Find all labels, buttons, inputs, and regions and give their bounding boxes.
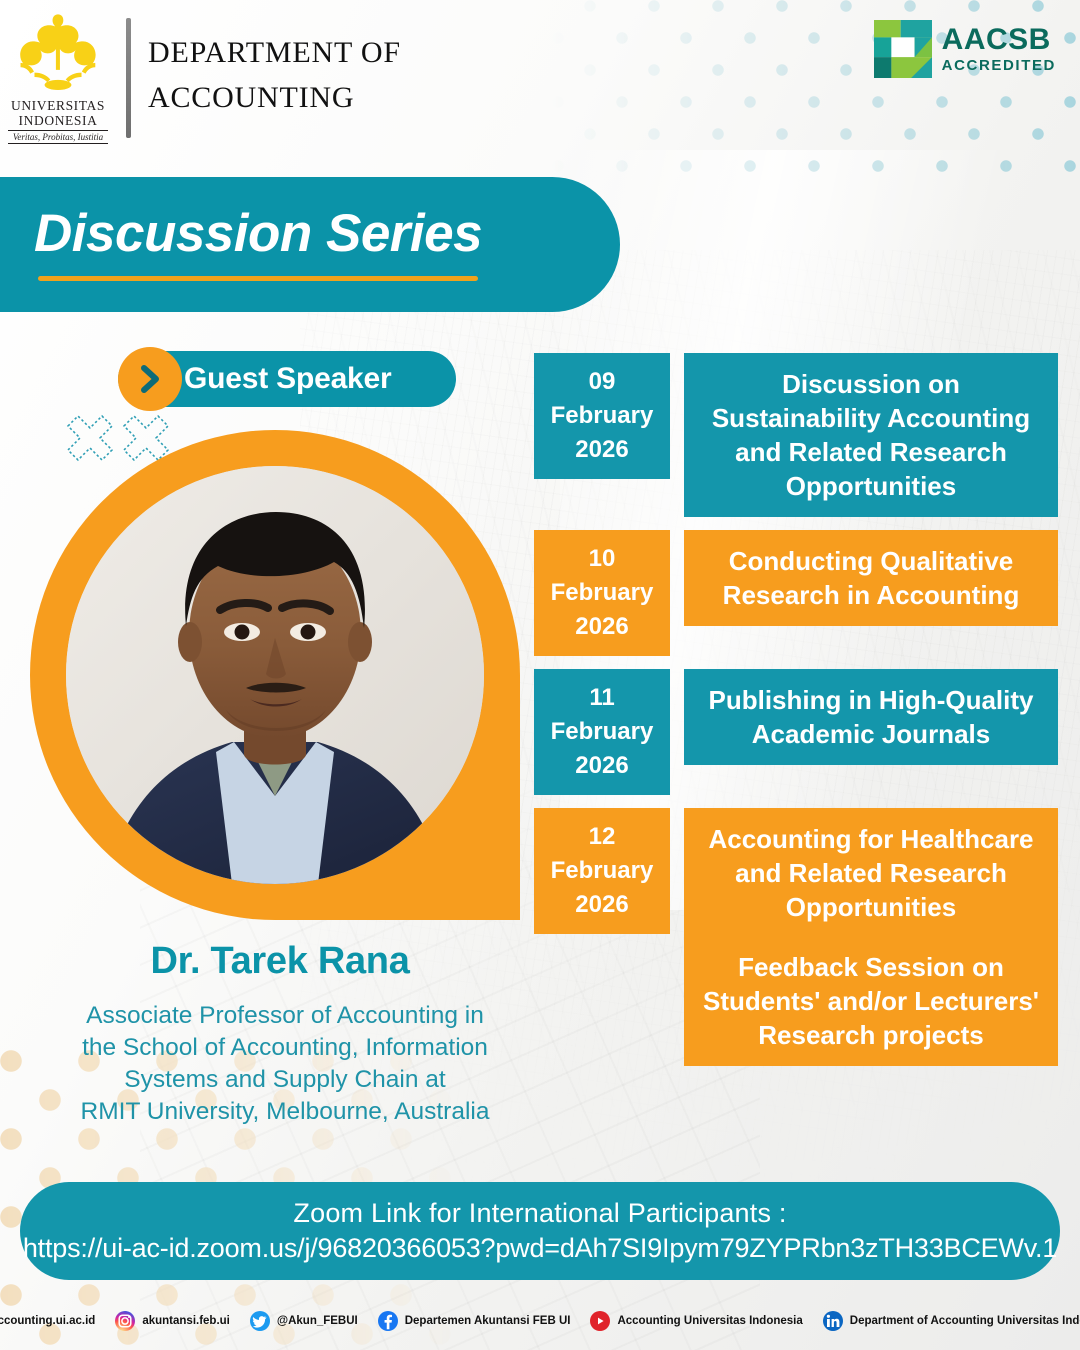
linkedin-icon[interactable] xyxy=(823,1311,843,1331)
session-date: 11February2026 xyxy=(534,669,670,795)
schedule-row: 09February2026Discussion on Sustainabili… xyxy=(534,353,1058,517)
social-handle: Departemen Akuntansi FEB UI xyxy=(405,1315,571,1327)
session-day: 11 xyxy=(534,681,670,715)
session-day: 09 xyxy=(534,365,670,399)
session-day: 12 xyxy=(534,820,670,854)
session-day: 10 xyxy=(534,542,670,576)
page-title: Discussion Series xyxy=(34,203,482,264)
speaker-bio-line1: Associate Professor of Accounting in xyxy=(10,1000,560,1032)
session-month: February xyxy=(534,576,670,610)
speaker-photo xyxy=(30,430,520,920)
university-motto: Veritas, Probitas, Iustitia xyxy=(8,130,108,144)
aacsb-accreditation-logo: AACSB ACCREDITED xyxy=(874,18,1056,80)
speaker-bio-line3: Systems and Supply Chain at xyxy=(10,1064,560,1096)
session-date: 10February2026 xyxy=(534,530,670,656)
social-link[interactable]: Accounting Universitas Indonesia xyxy=(590,1311,802,1331)
session-topic: Accounting for Healthcare and Related Re… xyxy=(684,808,1058,1066)
speaker-bio-line2: the School of Accounting, Information xyxy=(10,1032,560,1064)
schedule-row: 12February2026Accounting for Healthcare … xyxy=(534,808,1058,1066)
university-name-line2: INDONESIA xyxy=(19,113,98,128)
social-handle: Department of Accounting Universitas Ind… xyxy=(850,1315,1080,1327)
social-link[interactable]: accounting.ui.ac.id xyxy=(0,1311,95,1331)
department-title-line1: DEPARTMENT OF xyxy=(148,30,401,75)
session-month: February xyxy=(534,715,670,749)
session-topic: Conducting Qualitative Research in Accou… xyxy=(684,530,1058,626)
session-year: 2026 xyxy=(534,749,670,783)
social-link[interactable]: akuntansi.feb.ui xyxy=(115,1311,230,1331)
guest-speaker-badge: Guest Speaker xyxy=(118,351,456,407)
social-handle: @Akun_FEBUI xyxy=(277,1315,358,1327)
title-underline xyxy=(38,276,478,281)
session-topic: Discussion on Sustainability Accounting … xyxy=(684,353,1058,517)
schedule-row: 11February2026Publishing in High-Quality… xyxy=(534,669,1058,795)
university-name-line1: UNIVERSITAS xyxy=(11,98,105,113)
social-link[interactable]: Department of Accounting Universitas Ind… xyxy=(823,1311,1080,1331)
session-month: February xyxy=(534,399,670,433)
aacsb-mark-icon xyxy=(874,20,932,78)
youtube-icon[interactable] xyxy=(590,1311,610,1331)
aacsb-status: ACCREDITED xyxy=(942,58,1056,73)
session-schedule: 09February2026Discussion on Sustainabili… xyxy=(534,353,1058,1079)
zoom-link-label: Zoom Link for International Participants… xyxy=(293,1198,786,1229)
makara-icon xyxy=(16,10,100,96)
poster-canvas: UNIVERSITAS INDONESIA Veritas, Probitas,… xyxy=(0,0,1080,1350)
twitter-icon[interactable] xyxy=(250,1311,270,1331)
speaker-bio-line4: RMIT University, Melbourne, Australia xyxy=(10,1096,560,1128)
session-topic-secondary: Feedback Session on Students' and/or Lec… xyxy=(696,950,1046,1052)
aacsb-text: AACSB ACCREDITED xyxy=(942,25,1056,73)
schedule-row: 10February2026Conducting Qualitative Res… xyxy=(534,530,1058,656)
session-topic: Publishing in High-Quality Academic Jour… xyxy=(684,669,1058,765)
session-year: 2026 xyxy=(534,610,670,644)
session-month: February xyxy=(534,854,670,888)
session-topic-primary: Publishing in High-Quality Academic Jour… xyxy=(696,683,1046,751)
speaker-name: Dr. Tarek Rana xyxy=(0,940,560,983)
university-name: UNIVERSITAS INDONESIA xyxy=(8,98,108,128)
session-date: 09February2026 xyxy=(534,353,670,479)
speaker-photo-image xyxy=(66,466,484,884)
social-handle: akuntansi.feb.ui xyxy=(142,1315,230,1327)
poster-header: UNIVERSITAS INDONESIA Veritas, Probitas,… xyxy=(0,0,1080,175)
session-topic-spacer xyxy=(696,924,1046,950)
social-media-footer: accounting.ui.ac.idakuntansi.feb.ui@Akun… xyxy=(0,1292,1080,1350)
session-date: 12February2026 xyxy=(534,808,670,934)
speaker-portrait-illustration xyxy=(66,466,484,884)
instagram-icon[interactable] xyxy=(115,1311,135,1331)
zoom-link-banner[interactable]: Zoom Link for International Participants… xyxy=(20,1182,1060,1280)
universitas-indonesia-logo: UNIVERSITAS INDONESIA Veritas, Probitas,… xyxy=(8,8,108,150)
zoom-link-url[interactable]: https://ui-ac-id.zoom.us/j/96820366053?p… xyxy=(23,1233,1057,1264)
speaker-bio: Associate Professor of Accounting in the… xyxy=(10,1000,560,1128)
department-title-line2: ACCOUNTING xyxy=(148,75,401,120)
social-link[interactable]: @Akun_FEBUI xyxy=(250,1311,358,1331)
social-handle: Accounting Universitas Indonesia xyxy=(617,1315,802,1327)
session-topic-primary: Conducting Qualitative Research in Accou… xyxy=(696,544,1046,612)
session-topic-primary: Accounting for Healthcare and Related Re… xyxy=(696,822,1046,924)
header-divider xyxy=(126,18,131,138)
session-year: 2026 xyxy=(534,433,670,467)
chevron-right-icon xyxy=(118,347,182,411)
title-banner: Discussion Series xyxy=(0,177,620,312)
chevron-right-glyph xyxy=(133,362,167,396)
department-title: DEPARTMENT OF ACCOUNTING xyxy=(148,30,401,120)
session-topic-primary: Discussion on Sustainability Accounting … xyxy=(696,367,1046,503)
aacsb-name: AACSB xyxy=(942,25,1056,55)
social-link[interactable]: Departemen Akuntansi FEB UI xyxy=(378,1311,571,1331)
social-handle: accounting.ui.ac.id xyxy=(0,1315,95,1327)
facebook-icon[interactable] xyxy=(378,1311,398,1331)
guest-speaker-label: Guest Speaker xyxy=(184,351,392,407)
session-year: 2026 xyxy=(534,888,670,922)
